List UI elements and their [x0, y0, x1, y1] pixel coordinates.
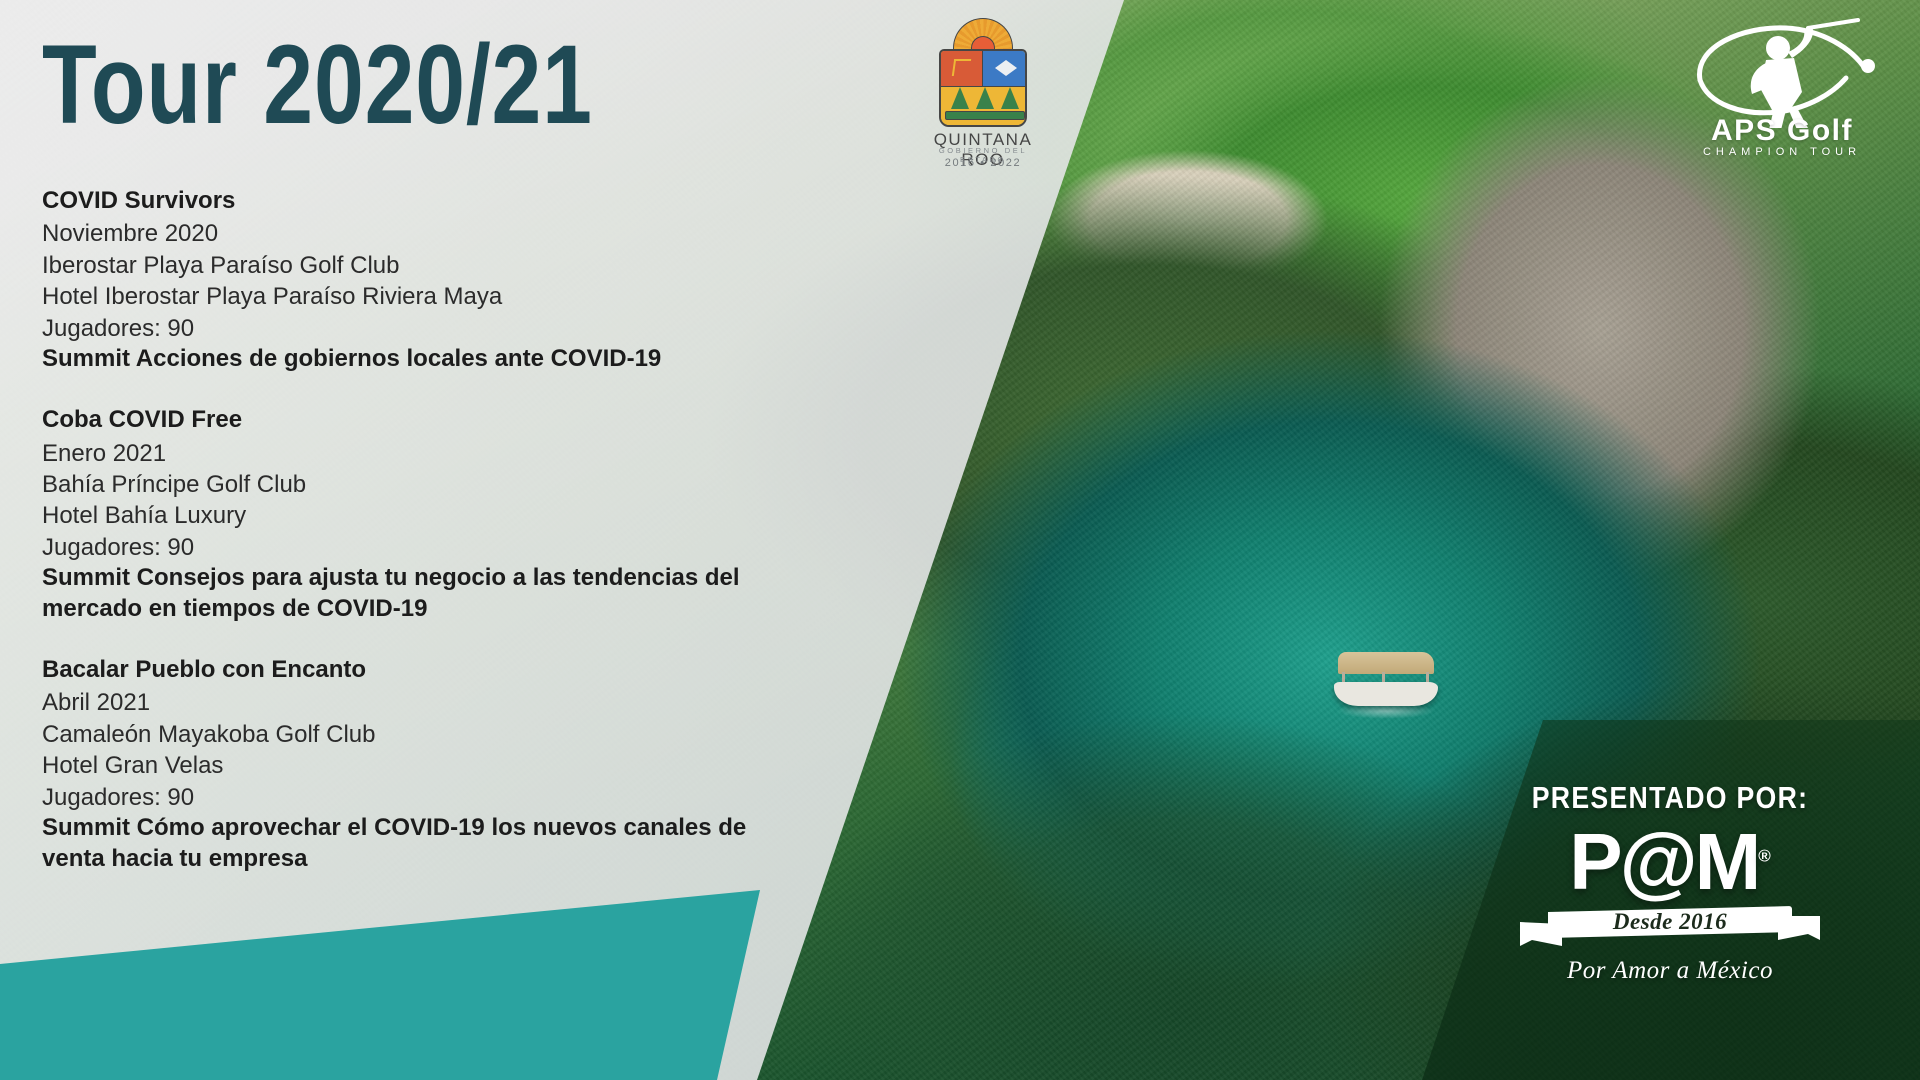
event-players: Jugadores: 90 — [42, 782, 832, 813]
event-venue: Camaleón Mayakoba Golf Club — [42, 719, 832, 750]
event-summit: Summit Consejos para ajusta tu negocio a… — [42, 563, 782, 624]
page-title: Tour 2020/21 — [42, 20, 593, 149]
pam-tagline: Por Amor a México — [1480, 957, 1860, 985]
poster: Tour 2020/21 COVID Survivors Noviembre 2… — [0, 0, 1920, 1080]
event-summit: Summit Cómo aprovechar el COVID-19 los n… — [42, 813, 782, 874]
quintana-roo-years: 2016 • 2022 — [917, 157, 1049, 169]
presented-by-label: PRESENTADO POR: — [1507, 780, 1834, 816]
quintana-roo-logo: QUINTANA ROO GOBIERNO DEL ESTADO 2016 • … — [917, 18, 1049, 163]
event-hotel: Hotel Bahía Luxury — [42, 500, 832, 531]
tree-icon — [1001, 87, 1019, 109]
tree-icon — [951, 87, 969, 109]
shield-quadrant-red — [941, 51, 983, 87]
coat-of-arms-shield-icon — [939, 49, 1027, 127]
aps-golf-tagline: CHAMPION TOUR — [1682, 146, 1882, 158]
event-name: Coba COVID Free — [42, 404, 832, 435]
event-venue: Bahía Príncipe Golf Club — [42, 469, 832, 500]
event-hotel: Hotel Iberostar Playa Paraíso Riviera Ma… — [42, 281, 832, 312]
events-list: COVID Survivors Noviembre 2020 Iberostar… — [42, 185, 832, 874]
shield-base-bar — [945, 111, 1025, 120]
event-block: Coba COVID Free Enero 2021 Bahía Príncip… — [42, 404, 832, 624]
event-players: Jugadores: 90 — [42, 313, 832, 344]
golfer-swing-icon — [1682, 18, 1882, 128]
boat-hull — [1334, 682, 1438, 706]
content-column: Tour 2020/21 COVID Survivors Noviembre 2… — [0, 0, 860, 1080]
star-icon — [995, 60, 1017, 68]
aps-golf-brand: APS Golf — [1682, 114, 1882, 148]
event-venue: Iberostar Playa Paraíso Golf Club — [42, 250, 832, 281]
presented-by-block: PRESENTADO POR: P@M® Desde 2016 Por Amor… — [1360, 720, 1920, 1080]
aps-golf-logo: APS Golf CHAMPION TOUR — [1682, 18, 1882, 168]
event-date: Noviembre 2020 — [42, 218, 832, 249]
event-name: Bacalar Pueblo con Encanto — [42, 654, 832, 685]
pam-wordmark: P@M® — [1569, 822, 1771, 902]
event-hotel: Hotel Gran Velas — [42, 750, 832, 781]
shield-quadrant-blue — [983, 51, 1025, 87]
pam-logo-content: PRESENTADO POR: P@M® Desde 2016 Por Amor… — [1480, 780, 1860, 985]
shield-lower-band — [941, 87, 1025, 125]
event-name: COVID Survivors — [42, 185, 832, 216]
event-date: Abril 2021 — [42, 687, 832, 718]
pam-mark-text: P@M — [1569, 817, 1758, 906]
boat-illustration — [1332, 648, 1440, 710]
pam-ribbon-text: Desde 2016 — [1548, 907, 1792, 937]
boat-canopy — [1338, 652, 1434, 674]
event-block: COVID Survivors Noviembre 2020 Iberostar… — [42, 185, 832, 374]
pam-ribbon: Desde 2016 — [1520, 904, 1820, 950]
flag-glyph-icon — [952, 59, 971, 76]
event-date: Enero 2021 — [42, 438, 832, 469]
event-players: Jugadores: 90 — [42, 532, 832, 563]
event-summit: Summit Acciones de gobiernos locales ant… — [42, 344, 782, 374]
registered-trademark-icon: ® — [1758, 846, 1771, 865]
tree-icon — [976, 87, 994, 109]
event-block: Bacalar Pueblo con Encanto Abril 2021 Ca… — [42, 654, 832, 874]
